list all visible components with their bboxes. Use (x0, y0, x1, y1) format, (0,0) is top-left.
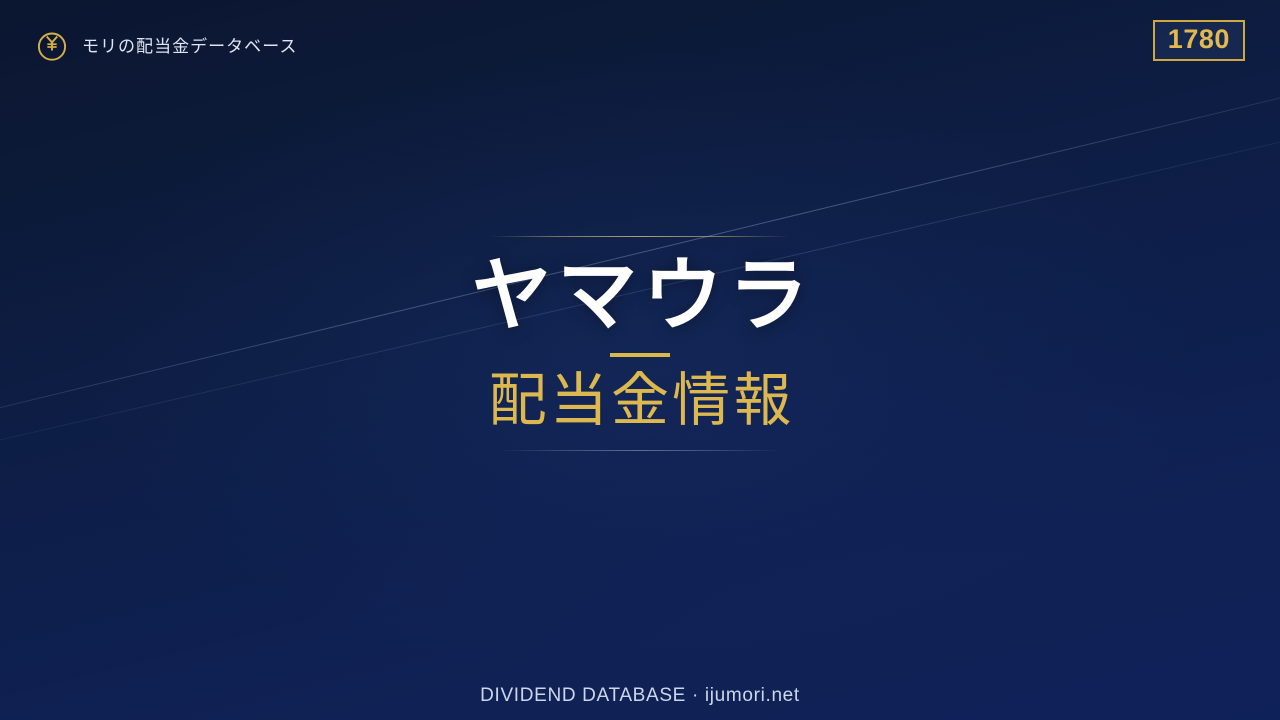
hero-bottom-rule (498, 450, 782, 451)
section-label-subtitle: 配当金情報 (485, 371, 794, 432)
slide-canvas: モリの配当金データベース 1780 ヤマウラ 配当金情報 DIVIDEND DA… (0, 0, 1280, 720)
hero-block: ヤマウラ 配当金情報 (0, 236, 1280, 451)
hero-top-rule (490, 236, 790, 237)
ticker-code-value: 1780 (1168, 24, 1230, 54)
gold-divider (610, 353, 670, 357)
ticker-code-badge: 1780 (1153, 20, 1245, 61)
site-footer: DIVIDEND DATABASE · ijumori.net (0, 685, 1280, 708)
yen-circle-icon (36, 30, 68, 62)
company-name-title: ヤマウラ (466, 256, 814, 336)
footer-credit-text: DIVIDEND DATABASE · ijumori.net (480, 685, 800, 706)
site-name-label: モリの配当金データベース (82, 38, 297, 55)
site-header: モリの配当金データベース (36, 30, 297, 62)
